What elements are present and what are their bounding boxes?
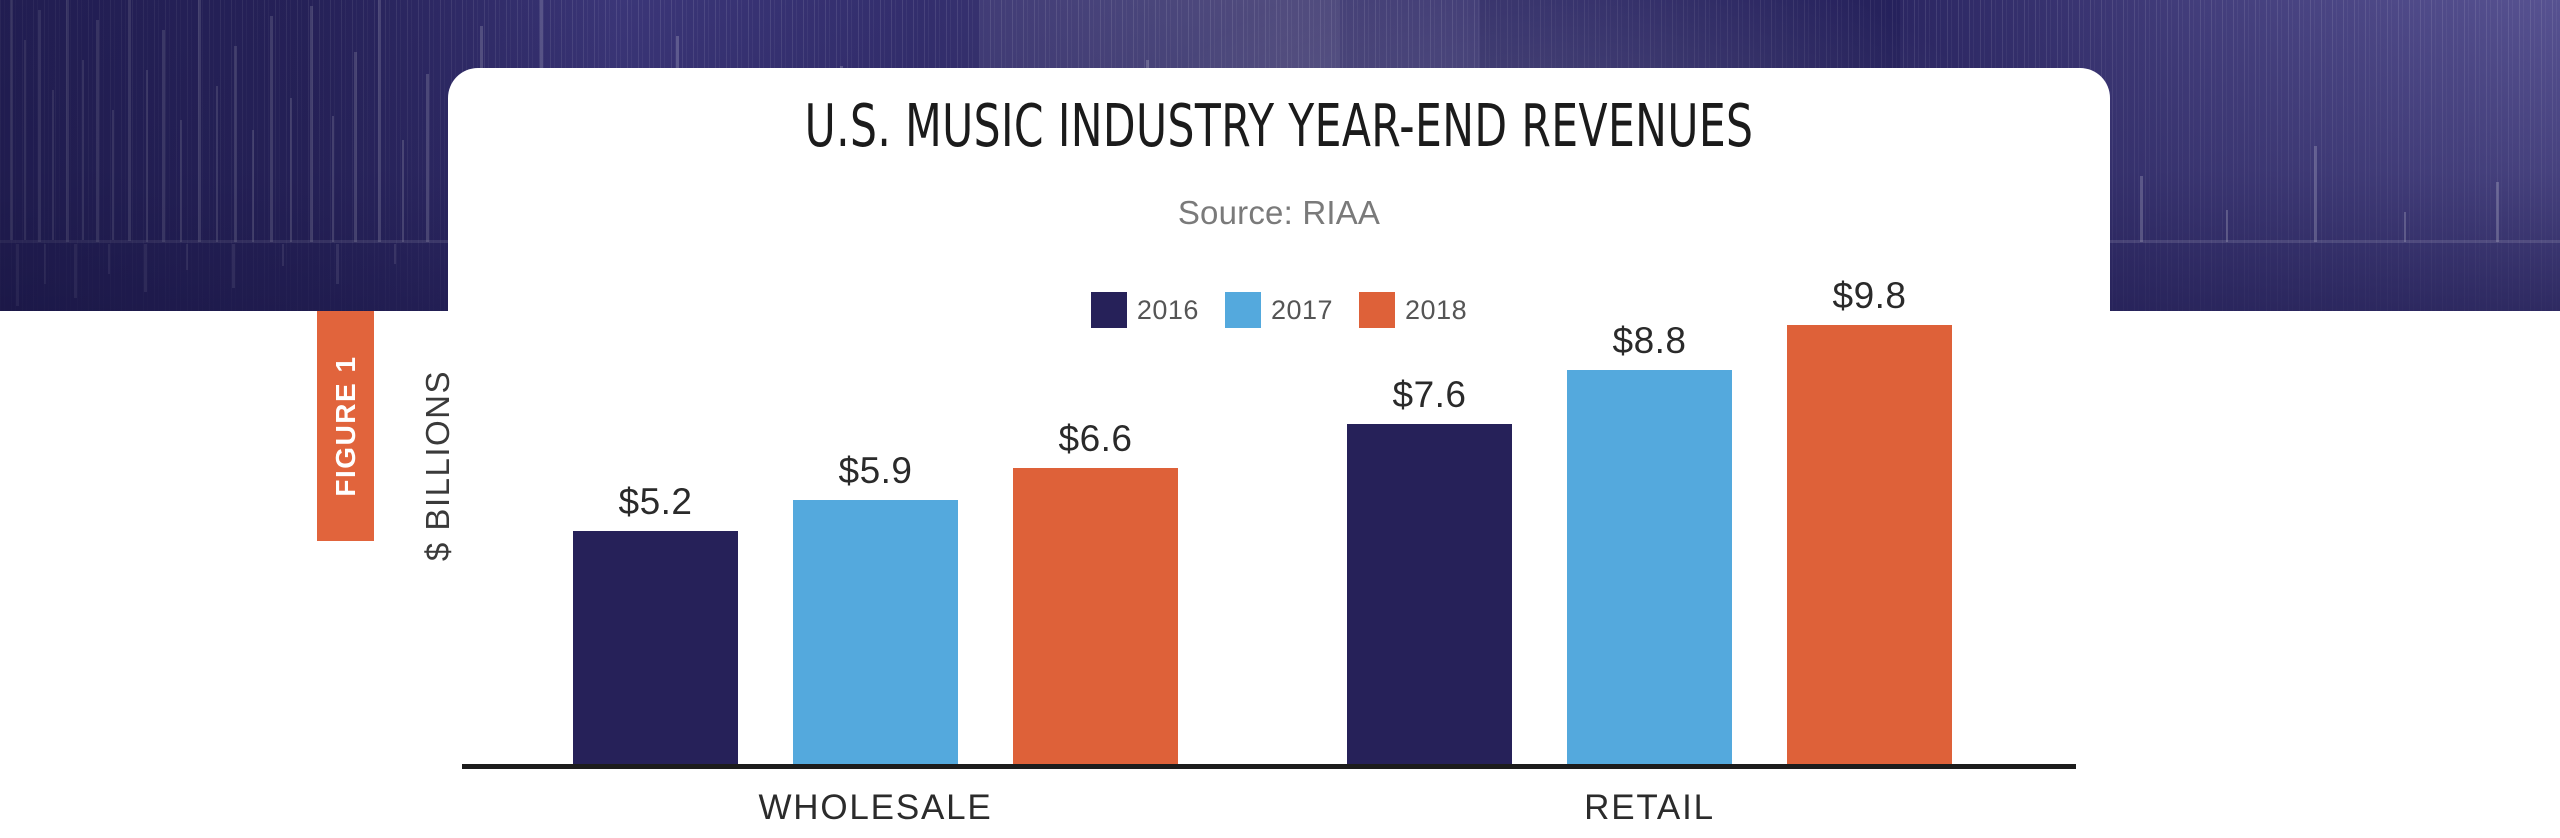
bar-wholesale-2018: $6.6	[1013, 468, 1178, 764]
bar-rect	[793, 500, 958, 764]
bar-retail-2017: $8.8	[1567, 370, 1732, 764]
x-axis-category-wholesale: WHOLESALE	[573, 788, 1178, 828]
legend-swatch-2016	[1091, 292, 1127, 328]
chart-legend: 2016 2017 2018	[448, 292, 2110, 328]
legend-swatch-2017	[1225, 292, 1261, 328]
legend-item-2017[interactable]: 2017	[1225, 292, 1333, 328]
bar-value-label: $6.6	[1058, 418, 1132, 460]
x-axis-category-retail: RETAIL	[1347, 788, 1952, 828]
bar-rect	[573, 531, 738, 764]
legend-label-2016: 2016	[1137, 295, 1199, 326]
figure-screenshot: U.S. MUSIC INDUSTRY YEAR-END REVENUES So…	[0, 0, 2560, 838]
figure-number-label: FIGURE 1	[330, 355, 362, 496]
bar-rect	[1347, 424, 1512, 764]
legend-label-2017: 2017	[1271, 295, 1333, 326]
page-title: U.S. MUSIC INDUSTRY YEAR-END REVENUES	[614, 95, 1944, 157]
legend-item-2016[interactable]: 2016	[1091, 292, 1199, 328]
legend-item-2018[interactable]: 2018	[1359, 292, 1467, 328]
plot-area: $5.2$5.9$6.6$7.6$8.8$9.8 WHOLESALERETAIL	[448, 311, 2110, 838]
bar-retail-2018: $9.8	[1787, 325, 1952, 764]
legend-swatch-2018	[1359, 292, 1395, 328]
figure-number-tab: FIGURE 1	[317, 311, 374, 541]
bar-retail-2016: $7.6	[1347, 424, 1512, 764]
bar-wholesale-2017: $5.9	[793, 500, 958, 764]
bar-rect	[1567, 370, 1732, 764]
bar-rect	[1013, 468, 1178, 764]
bar-value-label: $5.2	[618, 481, 692, 523]
bar-wholesale-2016: $5.2	[573, 531, 738, 764]
bar-value-label: $5.9	[838, 450, 912, 492]
chart-source-subtitle: Source: RIAA	[448, 194, 2110, 232]
legend-label-2018: 2018	[1405, 295, 1467, 326]
bar-value-label: $7.6	[1392, 374, 1466, 416]
bar-rect	[1787, 325, 1952, 764]
x-axis-line	[462, 764, 2076, 769]
